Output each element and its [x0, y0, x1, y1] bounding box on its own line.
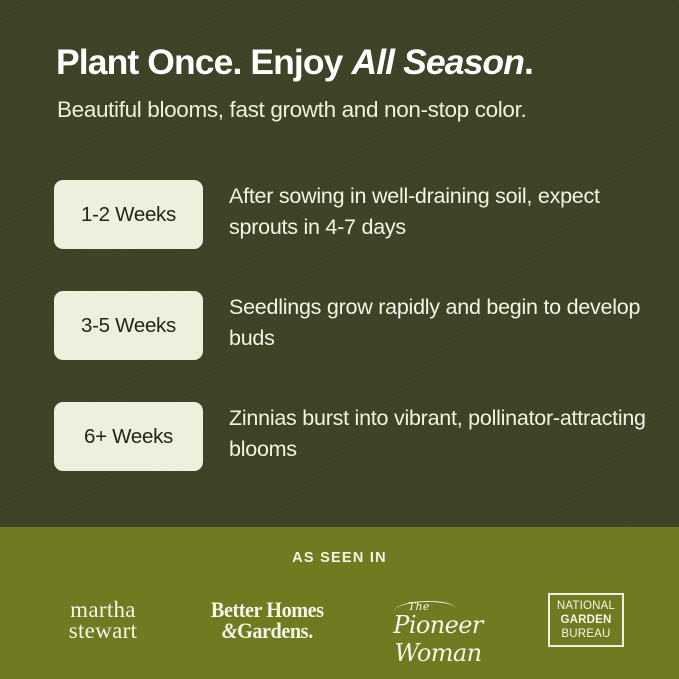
ngb-box-frame: NATIONAL GARDEN BUREAU: [548, 593, 624, 647]
page-title: Plant Once. Enjoy All Season.: [56, 41, 656, 83]
timeline-row: 6+ Weeks Zinnias burst into vibrant, pol…: [0, 402, 679, 471]
hero-panel: Plant Once. Enjoy All Season. Beautiful …: [0, 0, 679, 527]
bhg-gardens: Gardens.: [237, 618, 313, 643]
timeline-chip-label: 1-2 Weeks: [81, 203, 176, 227]
bhg-ampersand: &: [222, 618, 237, 643]
timeline-chip-2: 3-5 Weeks: [54, 291, 203, 360]
ngb-line-1: NATIONAL: [557, 599, 615, 613]
headline-period: .: [524, 42, 533, 82]
growth-timeline-list: 1-2 Weeks After sowing in well-draining …: [0, 180, 679, 513]
martha-stewart-line-2: stewart: [69, 620, 138, 641]
bhg-line-1: Better Homes: [211, 599, 324, 620]
martha-stewart-logo: martha stewart: [28, 585, 178, 655]
better-homes-gardens-logo: Better Homes &Gardens.: [183, 585, 351, 655]
timeline-description-3: Zinnias burst into vibrant, pollinator-a…: [229, 403, 649, 465]
as-seen-in-heading: AS SEEN IN: [0, 550, 679, 566]
bhg-line-2: &Gardens.: [211, 620, 324, 641]
ngb-line-2: GARDEN: [560, 613, 611, 627]
timeline-row: 3-5 Weeks Seedlings grow rapidly and beg…: [0, 291, 679, 360]
pioneer-woman-name: Pioneer Woman: [358, 611, 518, 667]
timeline-chip-label: 3-5 Weeks: [81, 314, 176, 338]
headline-italic-part: All Season: [351, 42, 524, 82]
pioneer-woman-logo: The Pioneer Woman: [358, 585, 518, 655]
page-subtitle: Beautiful blooms, fast growth and non-st…: [57, 95, 657, 125]
timeline-chip-label: 6+ Weeks: [84, 425, 173, 449]
headline-regular-part: Plant Once. Enjoy: [56, 42, 351, 82]
press-logo-row: martha stewart Better Homes &Gardens. Th…: [0, 585, 679, 655]
timeline-description-2: Seedlings grow rapidly and begin to deve…: [229, 292, 649, 354]
national-garden-bureau-logo: NATIONAL GARDEN BUREAU: [531, 585, 641, 655]
timeline-chip-3: 6+ Weeks: [54, 402, 203, 471]
timeline-row: 1-2 Weeks After sowing in well-draining …: [0, 180, 679, 249]
timeline-description-1: After sowing in well-draining soil, expe…: [229, 181, 649, 243]
promo-poster: Plant Once. Enjoy All Season. Beautiful …: [0, 0, 679, 679]
ngb-line-3: BUREAU: [561, 627, 610, 641]
martha-stewart-line-1: martha: [69, 599, 138, 620]
timeline-chip-1: 1-2 Weeks: [54, 180, 203, 249]
